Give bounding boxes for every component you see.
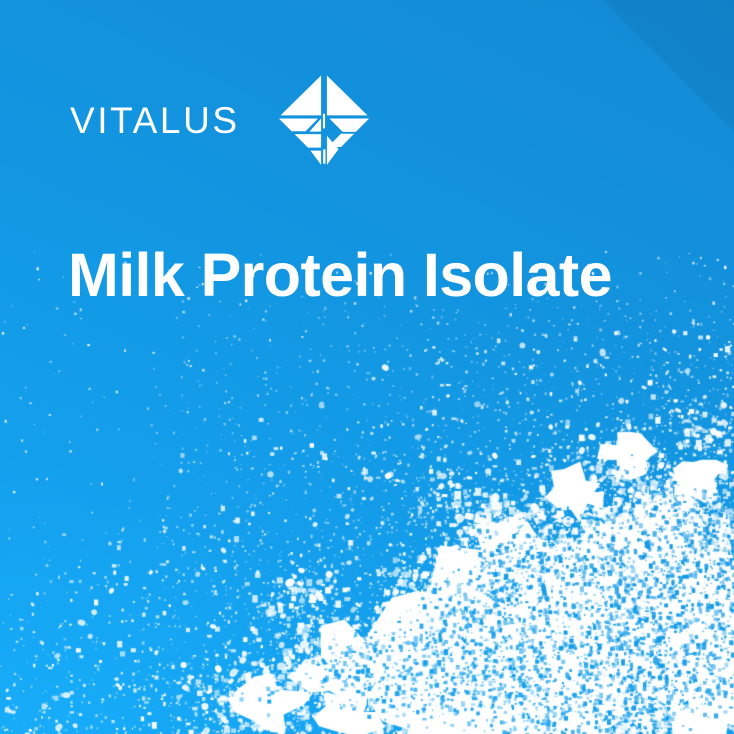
product-poster: VITALUS (0, 0, 734, 734)
corner-wedge-accent (586, 0, 734, 148)
brand-lockup: VITALUS (70, 68, 376, 172)
brand-wordmark: VITALUS (70, 102, 240, 139)
vitalus-diamond-logo-icon (272, 68, 376, 172)
product-title: Milk Protein Isolate (68, 243, 708, 307)
